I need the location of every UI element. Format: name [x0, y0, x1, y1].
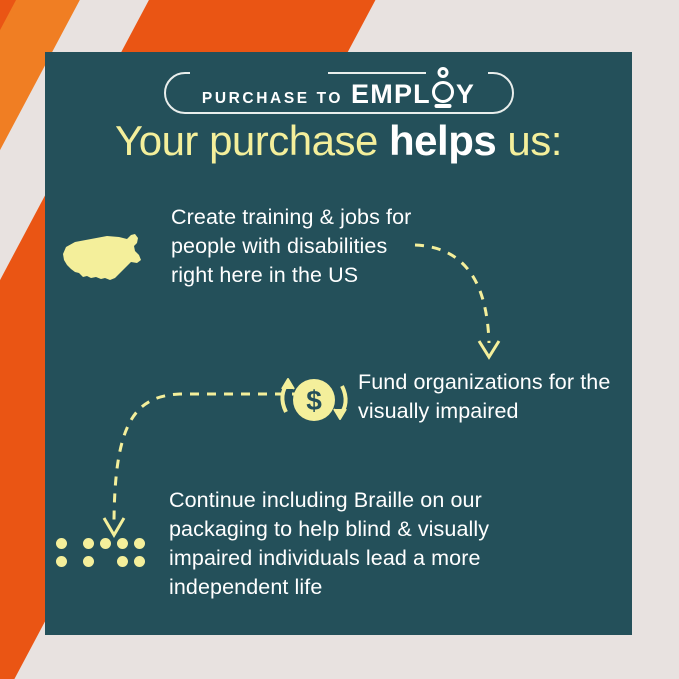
person-body-shape — [432, 81, 454, 103]
logo-employ-prefix: EMPL — [351, 79, 431, 110]
row-3-text: Continue including Braille on our packag… — [169, 486, 569, 602]
braille-dot — [117, 556, 128, 567]
braille-dots-icon — [56, 535, 166, 573]
us-map-icon — [61, 229, 151, 291]
coin-dollar-symbol: $ — [306, 385, 322, 416]
person-base-shape — [435, 104, 452, 108]
title-part-3: us: — [496, 117, 562, 164]
braille-dot — [83, 538, 94, 549]
braille-dot — [100, 538, 111, 549]
title-part-2: helps — [389, 117, 496, 164]
logo-pill-outline: PURCHASE TO EMPL Y — [164, 72, 514, 114]
braille-dot — [117, 538, 128, 549]
logo-big-text: EMPL Y — [351, 76, 475, 110]
infographic-canvas: PURCHASE TO EMPL Y Your purchase helps u… — [0, 0, 679, 679]
logo-small-text: PURCHASE TO — [202, 90, 343, 108]
logo-lockup: PURCHASE TO EMPL Y — [45, 72, 632, 114]
title-part-1: Your purchase — [115, 117, 389, 164]
page-title: Your purchase helps us: — [45, 117, 632, 165]
braille-dot — [56, 556, 67, 567]
logo-employ-suffix: Y — [456, 79, 475, 110]
person-icon — [432, 76, 455, 103]
braille-dot — [56, 538, 67, 549]
braille-dot — [83, 556, 94, 567]
braille-dot — [134, 556, 145, 567]
content-card: PURCHASE TO EMPL Y Your purchase helps u… — [45, 52, 632, 635]
dashed-arrow-down-right — [411, 237, 531, 367]
row-2-text: Fund organizations for the visually impa… — [358, 368, 623, 426]
braille-dot — [134, 538, 145, 549]
row-1-text: Create training & jobs for people with d… — [171, 203, 421, 290]
person-head-shape — [438, 67, 449, 78]
